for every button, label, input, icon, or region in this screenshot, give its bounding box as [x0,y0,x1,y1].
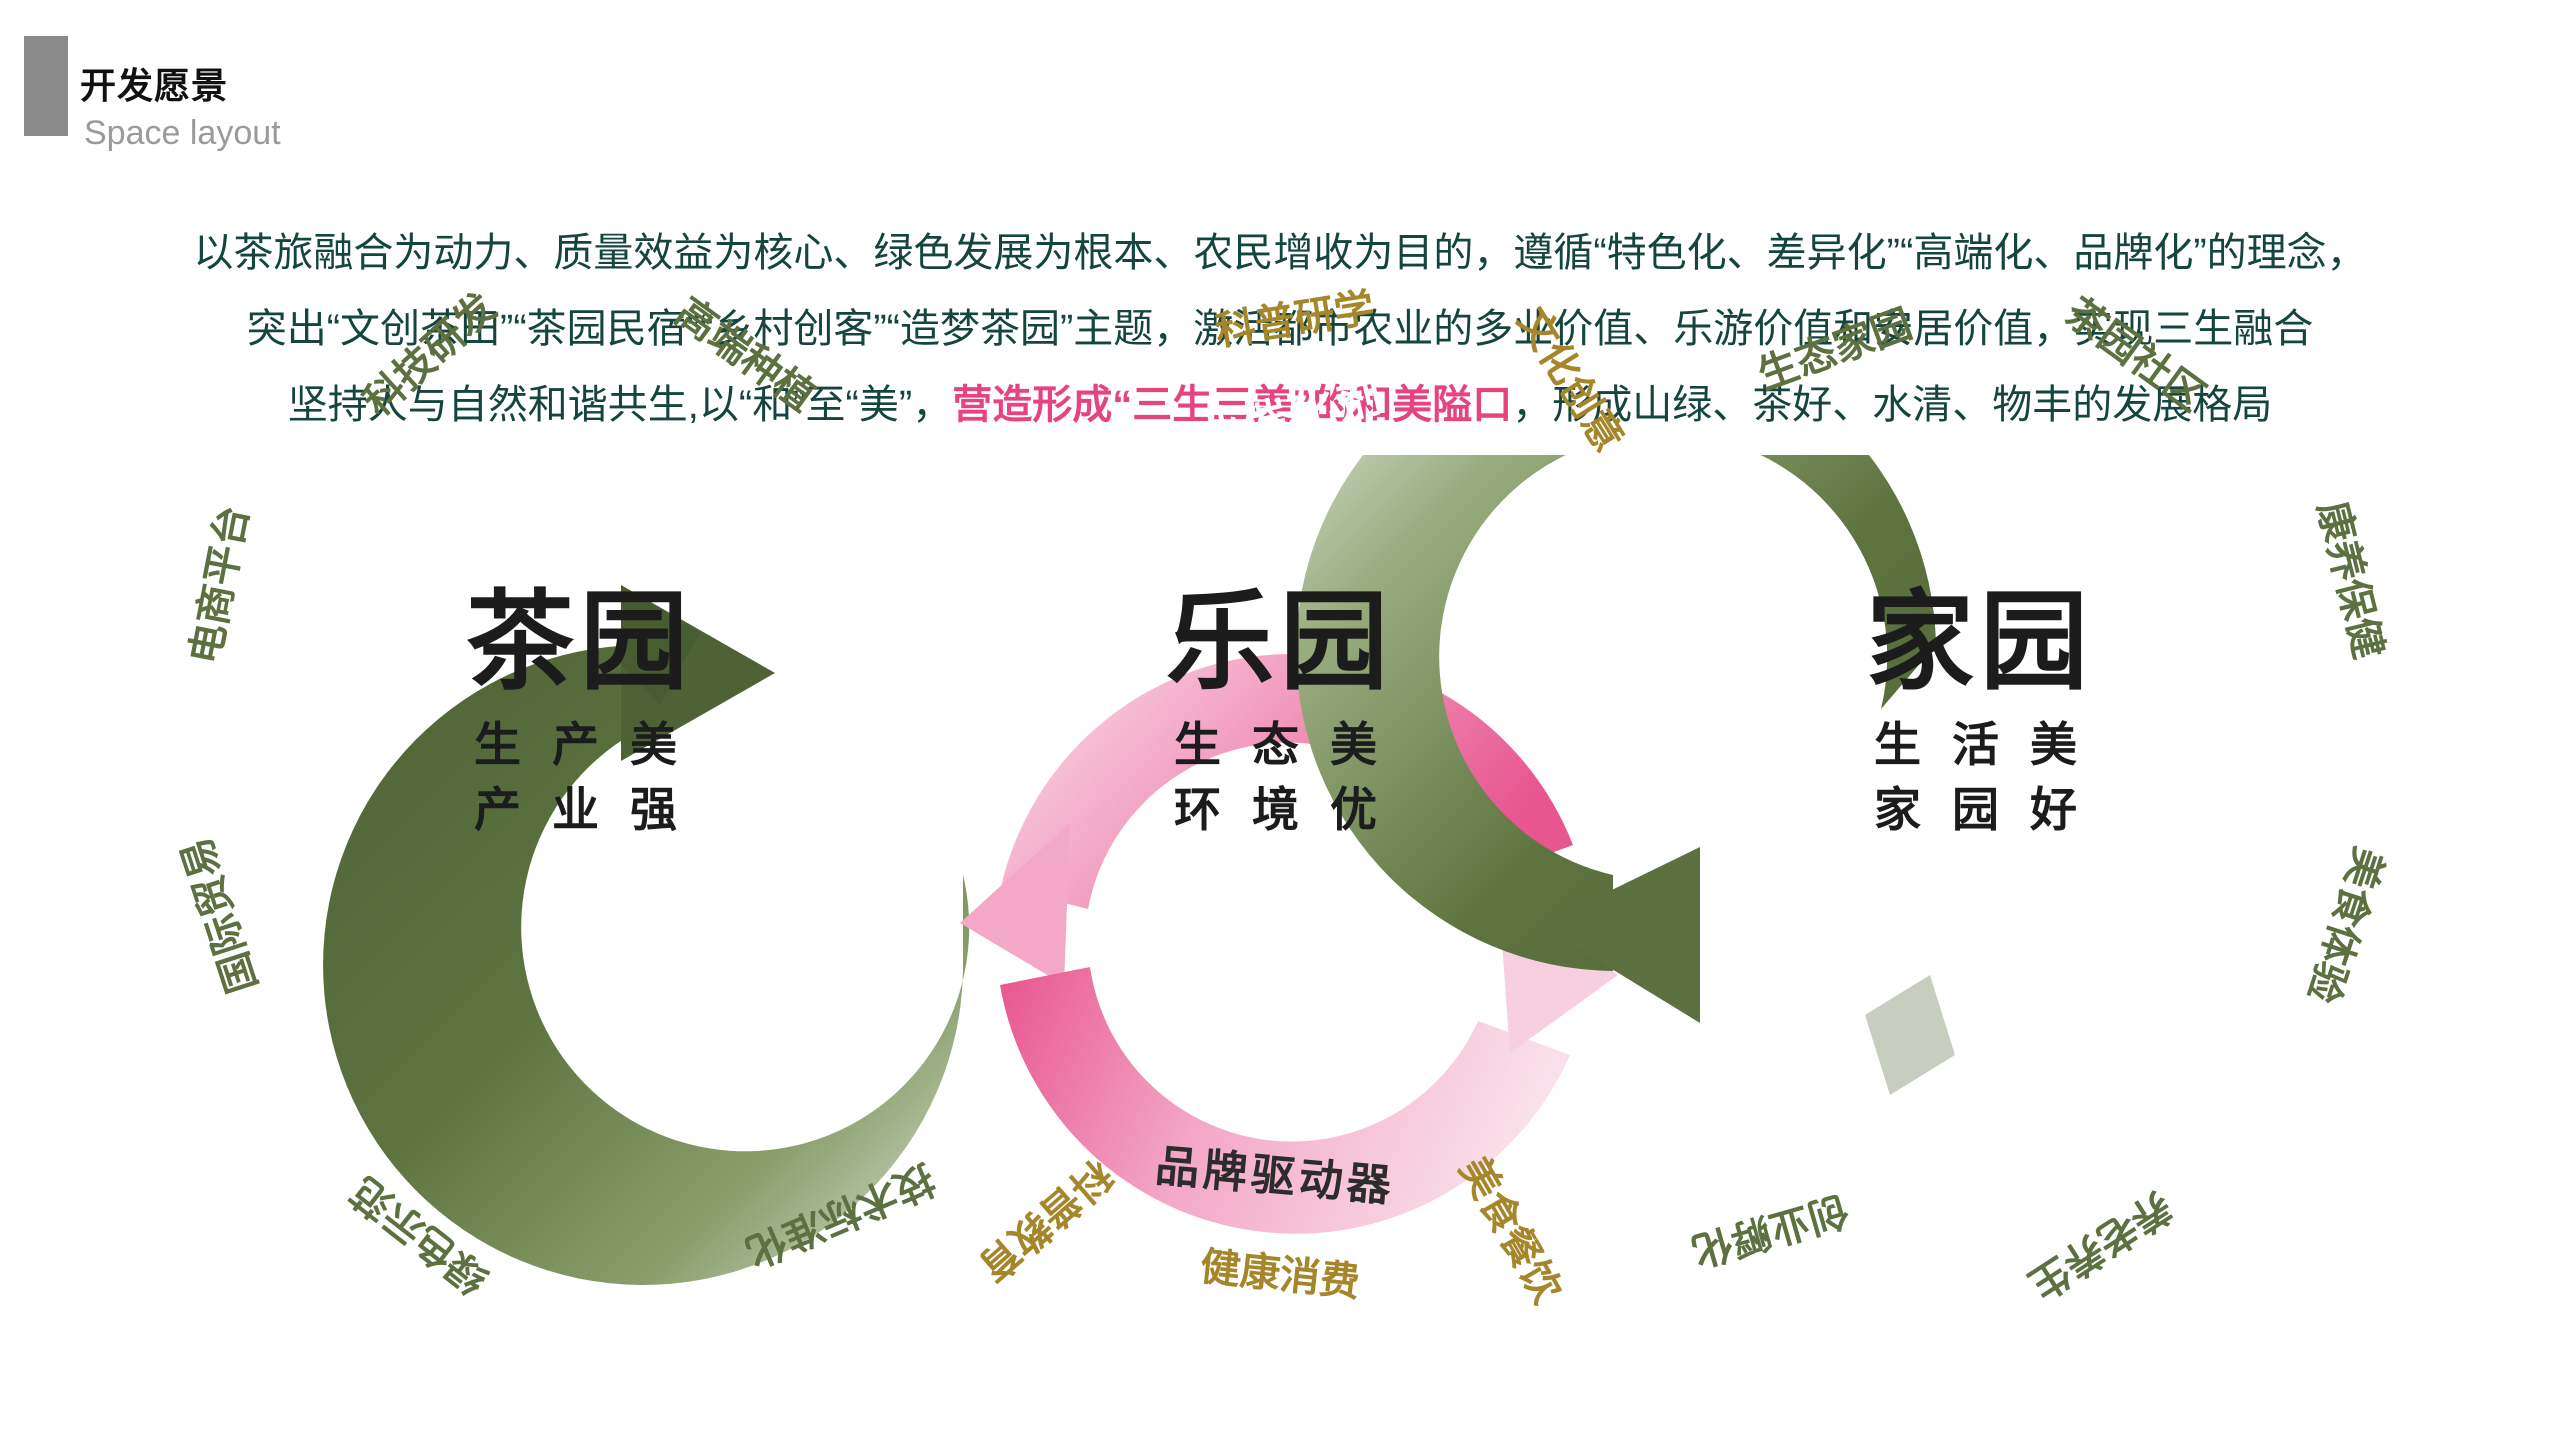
hub-left-line2: 产 业 强 [350,779,810,840]
hub-right-line1: 生 活 美 [1750,714,2210,775]
header-accent-bar [24,36,68,136]
hub-center-line1: 生 态 美 [1050,714,1510,775]
page-title: 开发愿景 [80,68,228,104]
right-ring-fold-shade [1865,975,1955,1095]
hub-right-title: 家园 [1750,585,2210,698]
hub-right: 家园 生 活 美 家 园 好 [1750,585,2210,841]
hub-left-title: 茶园 [350,585,810,698]
hub-center: 乐园 生 态 美 环 境 优 [1050,585,1510,841]
hub-left-line1: 生 产 美 [350,714,810,775]
intro-line-1: 以茶旅融合为动力、质量效益为核心、绿色发展为根本、农民增收为目的，遵循“特色化、… [0,215,2560,291]
hub-right-line2: 家 园 好 [1750,779,2210,840]
hub-left: 茶园 生 产 美 产 业 强 [350,585,810,841]
hub-center-title: 乐园 [1050,585,1510,698]
page-subtitle: Space layout [84,116,281,150]
hub-center-line2: 环 境 优 [1050,779,1510,840]
infinity-loop-diagram: 茶园 生 产 美 产 业 强 乐园 生 态 美 环 境 优 家园 生 活 美 家… [0,455,2560,1435]
page-header: 开发愿景 Space layout [0,24,2560,134]
